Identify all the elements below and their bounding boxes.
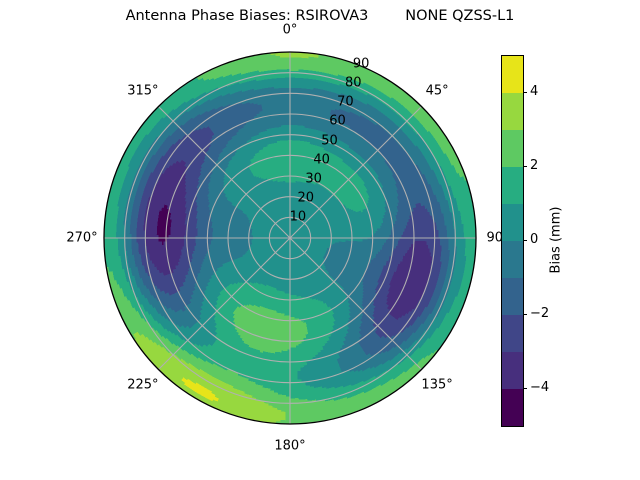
radial-tick-label-30: 30 <box>305 171 322 186</box>
colorbar-tick-mark <box>523 314 527 315</box>
polar-grid-group <box>104 52 476 424</box>
colorbar-segment-5 <box>502 241 523 278</box>
radial-tick-label-50: 50 <box>321 133 338 148</box>
colorbar-segment-2 <box>502 130 523 167</box>
colorbar-segment-1 <box>502 93 523 130</box>
colorbar-segment-9 <box>502 389 523 426</box>
theta-tick-label-225: 225° <box>127 378 158 393</box>
radial-tick-label-70: 70 <box>337 95 354 110</box>
theta-tick-label-315: 315° <box>127 83 158 98</box>
colorbar-segment-0 <box>502 56 523 93</box>
colorbar-segment-4 <box>502 204 523 241</box>
colorbar-tick-mark <box>523 388 527 389</box>
colorbar-tick-label: 2 <box>530 158 538 174</box>
colorbar-tick-mark <box>523 92 527 93</box>
theta-tick-label-180: 180° <box>274 439 305 454</box>
radial-tick-label-60: 60 <box>329 114 346 129</box>
theta-tick-label-45: 45° <box>426 83 449 98</box>
colorbar-tick-mark <box>523 240 527 241</box>
colorbar-tick-mark <box>523 166 527 167</box>
colorbar-tick-label: −2 <box>530 306 549 322</box>
colorbar-segment-8 <box>502 352 523 389</box>
colorbar-segment-3 <box>502 167 523 204</box>
figure-canvas: Antenna Phase Biases: RSIROVA3 NONE QZSS… <box>0 0 640 480</box>
theta-tick-label-0: 0° <box>283 23 298 38</box>
colorbar-tick-label: 0 <box>530 232 538 248</box>
radial-tick-label-20: 20 <box>298 190 315 205</box>
colorbar-tick-label: 4 <box>530 84 538 100</box>
theta-tick-label-135: 135° <box>421 378 452 393</box>
colorbar[interactable] <box>501 55 524 427</box>
colorbar-segment-7 <box>502 315 523 352</box>
colorbar-segment-6 <box>502 278 523 315</box>
radial-tick-label-90: 90 <box>353 57 370 72</box>
colorbar-axis-label: Bias (mm) <box>549 207 564 274</box>
theta-tick-label-270: 270° <box>66 231 97 246</box>
radial-tick-label-80: 80 <box>345 76 362 91</box>
radial-tick-label-40: 40 <box>313 152 330 167</box>
radial-tick-label-10: 10 <box>290 209 307 224</box>
colorbar-tick-label: −4 <box>530 380 549 396</box>
